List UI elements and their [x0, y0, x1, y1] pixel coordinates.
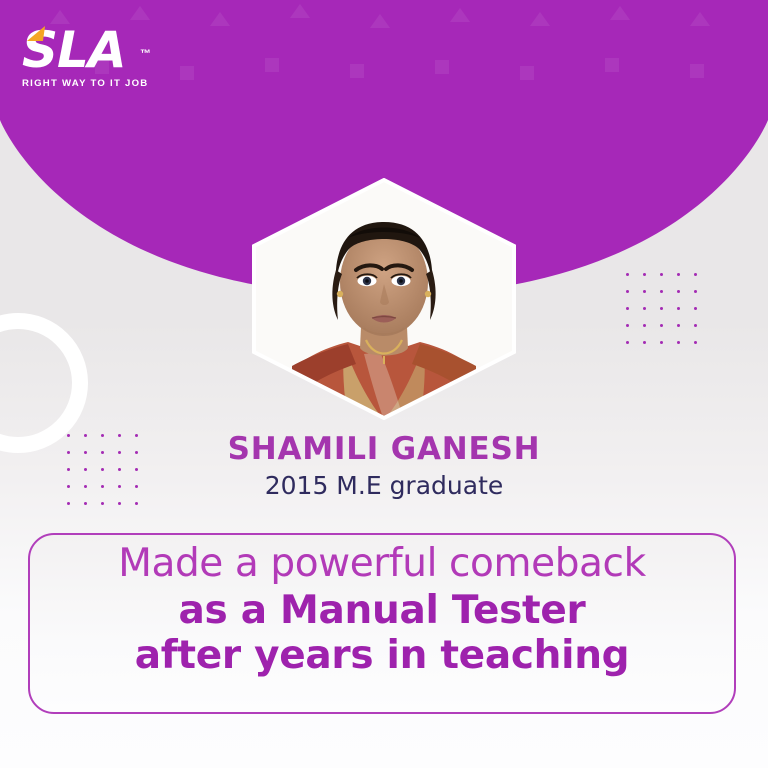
- logo-wordmark: SLA ™: [22, 24, 126, 76]
- headline-line-1: Made a powerful comeback: [28, 540, 736, 588]
- testimonial-poster: SLA ™ RIGHT WAY TO IT JOB: [0, 0, 768, 768]
- headline-line-3: after years in teaching: [28, 633, 736, 678]
- profile-name: SHAMILI GANESH: [0, 431, 768, 468]
- profile-subtitle: 2015 M.E graduate: [0, 471, 768, 501]
- dot-grid-right: [626, 273, 711, 358]
- sla-logo[interactable]: SLA ™ RIGHT WAY TO IT JOB: [22, 24, 182, 89]
- hexagon-photo-frame: [252, 178, 516, 420]
- logo-tagline: RIGHT WAY TO IT JOB: [22, 78, 182, 89]
- headline-line-2: as a Manual Tester: [28, 588, 736, 633]
- headline-text: Made a powerful comeback as a Manual Tes…: [28, 540, 736, 678]
- orange-triangle-icon: [27, 26, 45, 41]
- trademark-icon: ™: [140, 28, 150, 80]
